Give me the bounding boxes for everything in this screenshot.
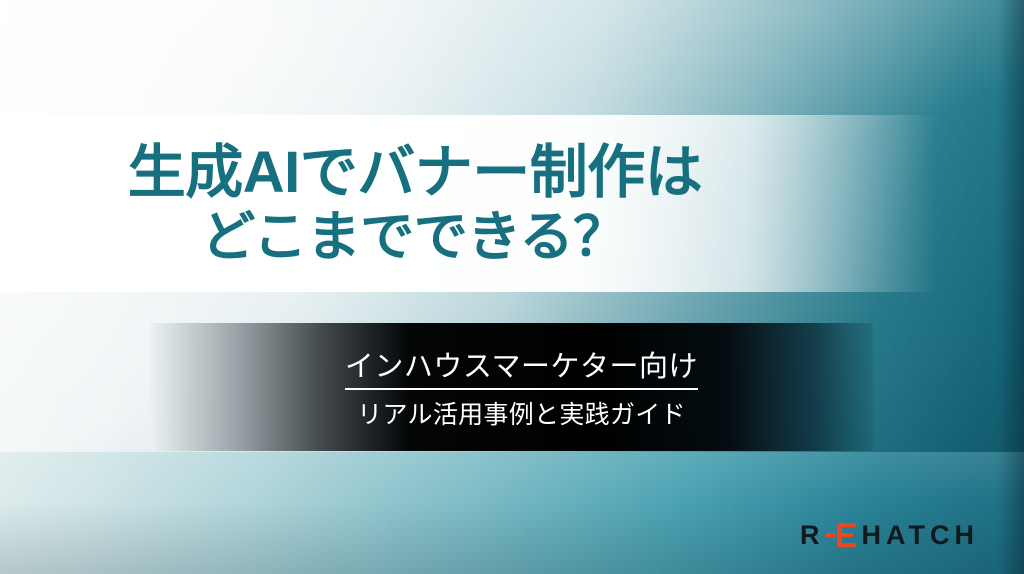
subtitle-block: インハウスマーケター向け リアル活用事例と実践ガイド <box>150 323 873 451</box>
logo-letter-r: R <box>800 522 825 549</box>
subtitle-line-1: インハウスマーケター向け <box>345 343 698 390</box>
rehatch-logo: R HATCH <box>800 518 979 552</box>
slide-canvas: 生成AIでバナー制作は どこまでできる？ インハウスマーケター向け リアル活用事… <box>0 0 1024 574</box>
logo-e-bar-top <box>837 523 856 527</box>
logo-e-mark-icon <box>826 522 857 548</box>
title-line-2: どこまでできる？ <box>201 210 626 264</box>
logo-e-dash <box>826 533 835 537</box>
background-right-edge-shade <box>998 0 1024 574</box>
logo-e-bar-mid <box>837 533 853 537</box>
logo-e-bar-bottom <box>837 543 856 547</box>
subtitle-line-2: リアル活用事例と実践ガイド <box>357 395 686 431</box>
logo-text-hatch: HATCH <box>862 522 979 549</box>
background-lower-shade <box>0 452 1024 574</box>
title-block: 生成AIでバナー制作は どこまでできる？ <box>0 115 936 292</box>
title-line-1: 生成AIでバナー制作は <box>128 144 703 202</box>
